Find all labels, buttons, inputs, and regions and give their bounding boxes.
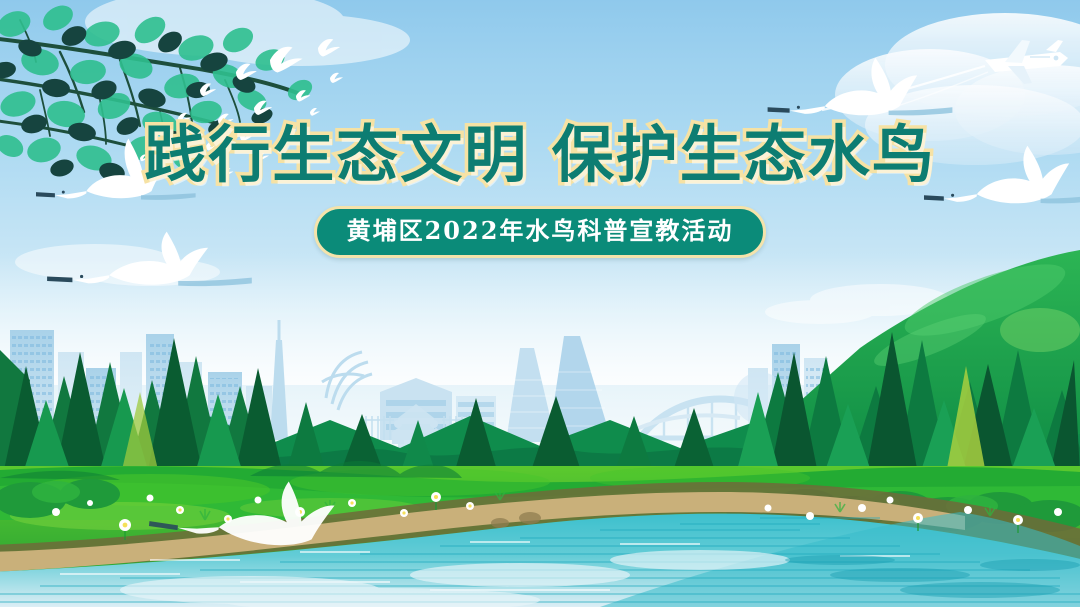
egret-layer xyxy=(0,0,1080,607)
egret-bottom-center xyxy=(148,467,336,551)
poster-canvas: 践行生态文明 保护生态水鸟 黄埔区2022年水鸟科普宣教活动 xyxy=(0,0,1080,607)
subtitle-banner: 黄埔区2022年水鸟科普宣教活动 xyxy=(314,206,767,258)
page-title: 践行生态文明 保护生态水鸟 xyxy=(0,118,1080,192)
title-block: 践行生态文明 保护生态水鸟 黄埔区2022年水鸟科普宣教活动 xyxy=(0,118,1080,258)
egret-upper-right xyxy=(768,58,953,116)
subtitle-text: 黄埔区2022年水鸟科普宣教活动 xyxy=(347,216,734,246)
